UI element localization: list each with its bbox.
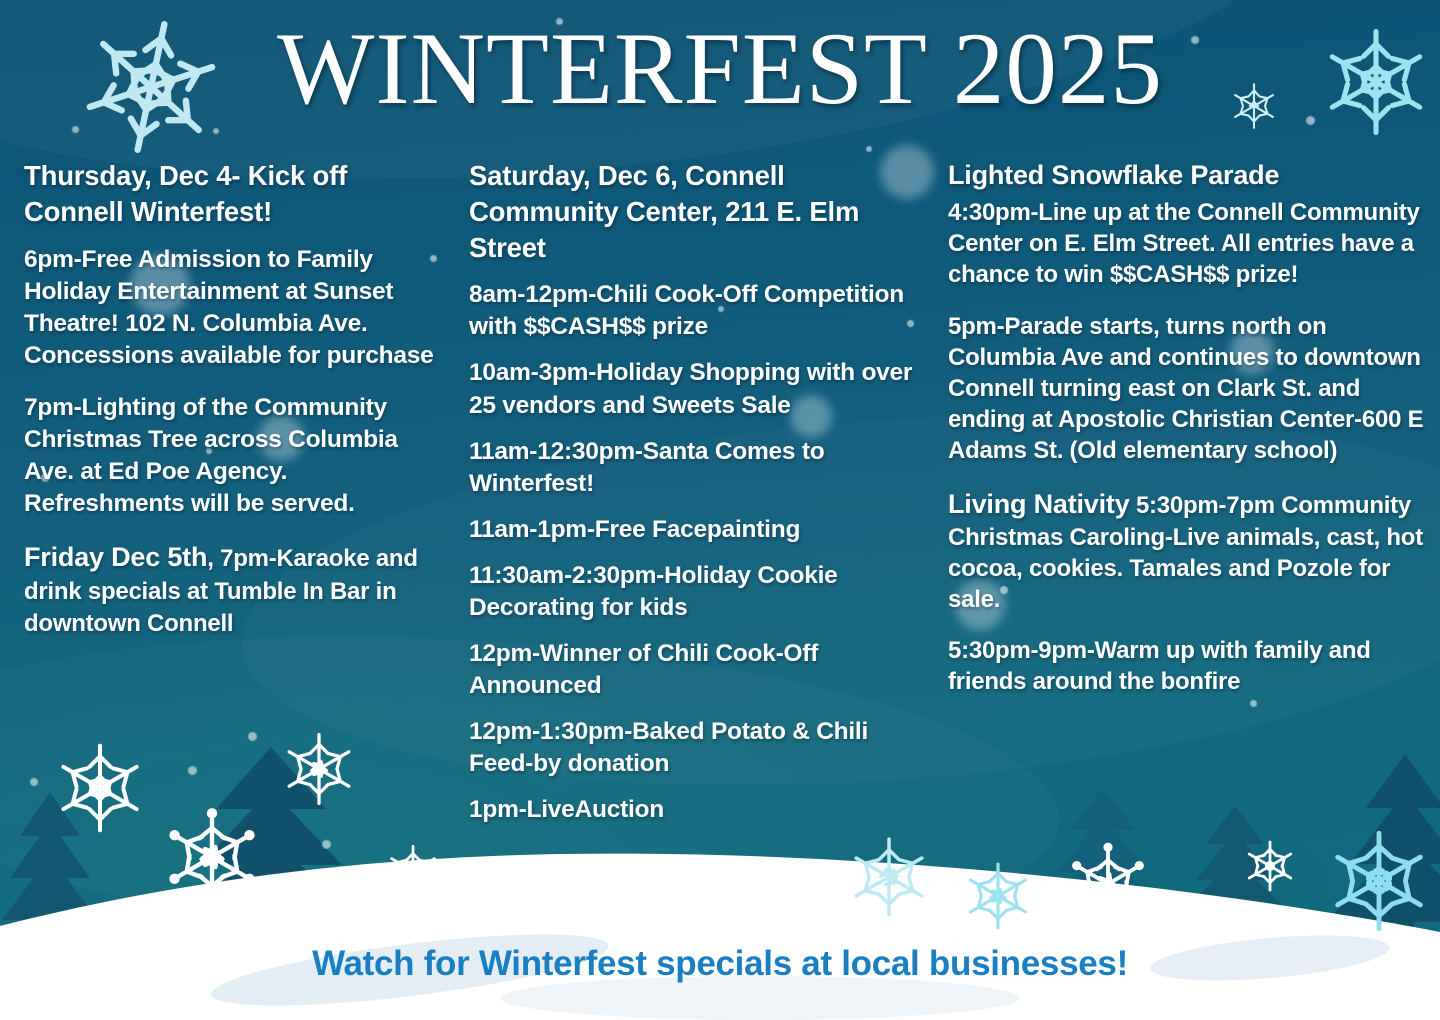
saturday-chili-cookoff-block: 8am-12pm-Chili Cook-Off Competition with… [469,279,925,343]
friday-block: Friday Dec 5th, 7pm-Karaoke and drink sp… [24,540,441,640]
saturday-live-auction: 1pm-LiveAuction [469,794,925,826]
winterfest-poster: WINTERFEST 2025 Thursday, Dec 4- Kick of… [0,0,1440,1020]
footer-message: Watch for Winterfest specials at local b… [312,944,1128,984]
living-nativity-lead: Living Nativity [948,489,1130,519]
parade-lineup-block: 4:30pm-Line up at the Connell Community … [948,197,1428,291]
column-saturday: Saturday, Dec 6, Connell Community Cente… [455,158,935,827]
living-nativity-text: Living Nativity 5:30pm-7pm Community Chr… [948,487,1428,616]
parade-heading-block: Lighted Snowflake Parade [948,158,1428,193]
friday-lead: Friday Dec 5th [24,542,207,572]
living-nativity-block: Living Nativity 5:30pm-7pm Community Chr… [948,487,1428,616]
page-title: WINTERFEST 2025 [0,12,1440,127]
saturday-facepainting-block: 11am-1pm-Free Facepainting [469,514,925,546]
parade-lineup: 4:30pm-Line up at the Connell Community … [948,197,1428,291]
snow-dot [213,128,219,134]
parade-heading: Lighted Snowflake Parade [948,158,1428,193]
parade-route: 5pm-Parade starts, turns north on Columb… [948,311,1428,467]
saturday-cookie-decorating-block: 11:30am-2:30pm-Holiday Cookie Decorating… [469,560,925,624]
saturday-live-auction-block: 1pm-LiveAuction [469,794,925,826]
saturday-heading: Saturday, Dec 6, Connell Community Cente… [469,158,925,265]
saturday-santa-block: 11am-12:30pm-Santa Comes to Winterfest! [469,436,925,500]
saturday-cookie-decorating: 11:30am-2:30pm-Holiday Cookie Decorating… [469,560,925,624]
saturday-santa: 11am-12:30pm-Santa Comes to Winterfest! [469,436,925,500]
bonfire-text: 5:30pm-9pm-Warm up with family and frien… [948,635,1428,697]
friday-text: Friday Dec 5th, 7pm-Karaoke and drink sp… [24,540,441,640]
thursday-heading: Thursday, Dec 4- Kick off Connell Winter… [24,158,441,230]
snow-dot [866,146,872,152]
saturday-chili-winner-block: 12pm-Winner of Chili Cook-Off Announced [469,638,925,702]
saturday-heading-block: Saturday, Dec 6, Connell Community Cente… [469,158,925,265]
thursday-6pm: 6pm-Free Admission to Family Holiday Ent… [24,244,441,372]
event-columns: Thursday, Dec 4- Kick off Connell Winter… [0,158,1440,827]
thursday-heading-block: Thursday, Dec 4- Kick off Connell Winter… [24,158,441,230]
thursday-6pm-block: 6pm-Free Admission to Family Holiday Ent… [24,244,441,372]
thursday-7pm-block: 7pm-Lighting of the Community Christmas … [24,392,441,520]
saturday-potato-feed-block: 12pm-1:30pm-Baked Potato & Chili Feed-by… [469,716,925,780]
saturday-holiday-shopping-block: 10am-3pm-Holiday Shopping with over 25 v… [469,357,925,421]
saturday-chili-winner: 12pm-Winner of Chili Cook-Off Announced [469,638,925,702]
saturday-facepainting: 11am-1pm-Free Facepainting [469,514,925,546]
parade-route-block: 5pm-Parade starts, turns north on Columb… [948,311,1428,467]
saturday-chili-cookoff: 8am-12pm-Chili Cook-Off Competition with… [469,279,925,343]
column-parade: Lighted Snowflake Parade 4:30pm-Line up … [935,158,1440,827]
footer-banner: Watch for Winterfest specials at local b… [0,908,1440,1020]
saturday-holiday-shopping: 10am-3pm-Holiday Shopping with over 25 v… [469,357,925,421]
saturday-potato-feed: 12pm-1:30pm-Baked Potato & Chili Feed-by… [469,716,925,780]
thursday-7pm: 7pm-Lighting of the Community Christmas … [24,392,441,520]
column-thursday: Thursday, Dec 4- Kick off Connell Winter… [0,158,455,827]
bonfire-block: 5:30pm-9pm-Warm up with family and frien… [948,635,1428,697]
